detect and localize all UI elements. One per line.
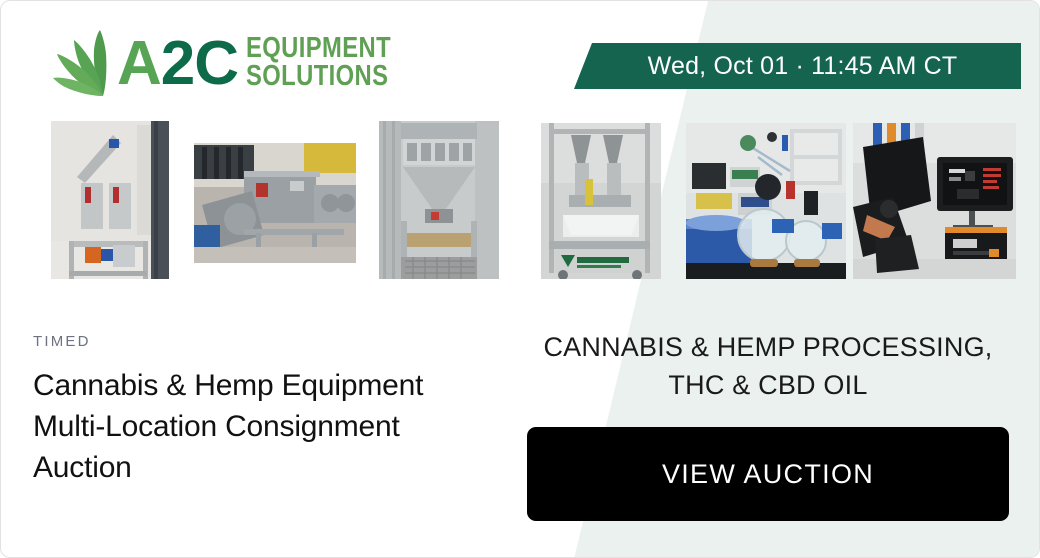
auction-info: TIMED Cannabis & Hemp Equipment Multi-Lo… <box>33 333 503 488</box>
logo-tagline-line2: SOLUTIONS <box>246 63 391 91</box>
logo-letters-2c: 2C <box>161 33 238 95</box>
thumbnail-extraction-skid[interactable] <box>51 121 169 279</box>
logo-wordmark: A2C <box>117 33 238 95</box>
cannabis-leaf-icon <box>53 28 115 100</box>
auction-category-text: CANNABIS & HEMP PROCESSING, THC & CBD OI… <box>527 328 1009 405</box>
thumbnail-multihead-weigher[interactable] <box>379 121 499 279</box>
thumbnail-lab-glassware[interactable] <box>686 123 846 279</box>
logo-tagline: EQUIPMENT SOLUTIONS <box>246 35 423 93</box>
thumbnail-dos-control-panel[interactable] <box>853 123 1016 279</box>
brand-logo[interactable]: A2C EQUIPMENT SOLUTIONS <box>53 23 383 105</box>
auction-title: Cannabis & Hemp Equipment Multi-Location… <box>33 366 503 488</box>
auction-date-banner: Wed, Oct 01 · 11:45 AM CT <box>574 43 1021 89</box>
thumbnail-ribbon-blender[interactable] <box>194 143 356 263</box>
logo-tagline-line1: EQUIPMENT <box>246 35 391 63</box>
auction-date-text: Wed, Oct 01 · 11:45 AM CT <box>638 52 958 81</box>
logo-letter-a: A <box>117 33 161 95</box>
auction-listing-card: A2C EQUIPMENT SOLUTIONS Wed, Oct 01 · 11… <box>0 0 1040 558</box>
thumbnail-actionpac-filler[interactable] <box>541 123 661 279</box>
auction-type-badge: TIMED <box>33 333 503 350</box>
auction-category-block: CANNABIS & HEMP PROCESSING, THC & CBD OI… <box>527 328 1009 405</box>
view-auction-button[interactable]: VIEW AUCTION <box>527 427 1009 521</box>
